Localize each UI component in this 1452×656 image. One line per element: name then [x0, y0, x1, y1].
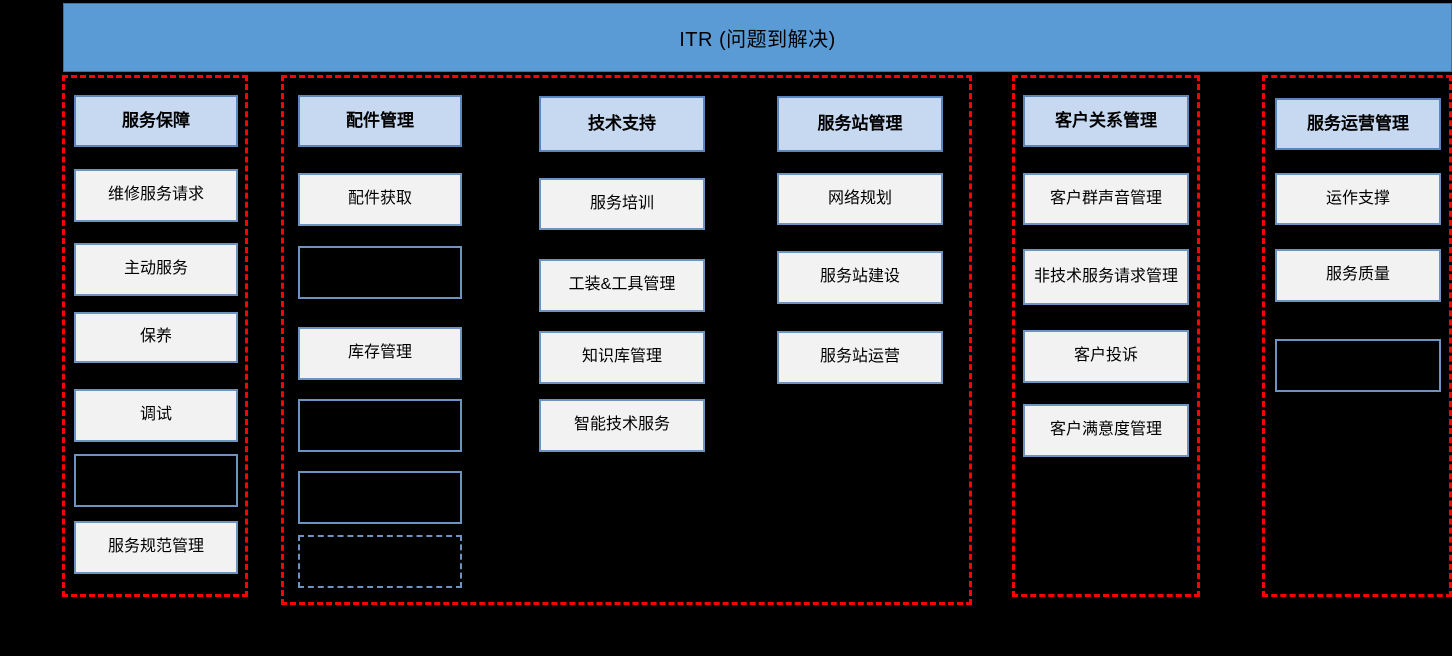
capability-box-service-operations-management-0[interactable]: 运作支撑 [1275, 173, 1441, 225]
column-header-service-operations-management[interactable]: 服务运营管理 [1275, 98, 1441, 150]
column-service-operations-management: 服务运营管理运作支撑服务质量 [0, 0, 1452, 656]
empty-box-service-operations-management-2 [1275, 339, 1441, 392]
itr-capability-map: ITR (问题到解决) 服务保障维修服务请求主动服务保养调试服务规范管理配件管理… [0, 0, 1452, 656]
capability-box-service-operations-management-1[interactable]: 服务质量 [1275, 249, 1441, 302]
